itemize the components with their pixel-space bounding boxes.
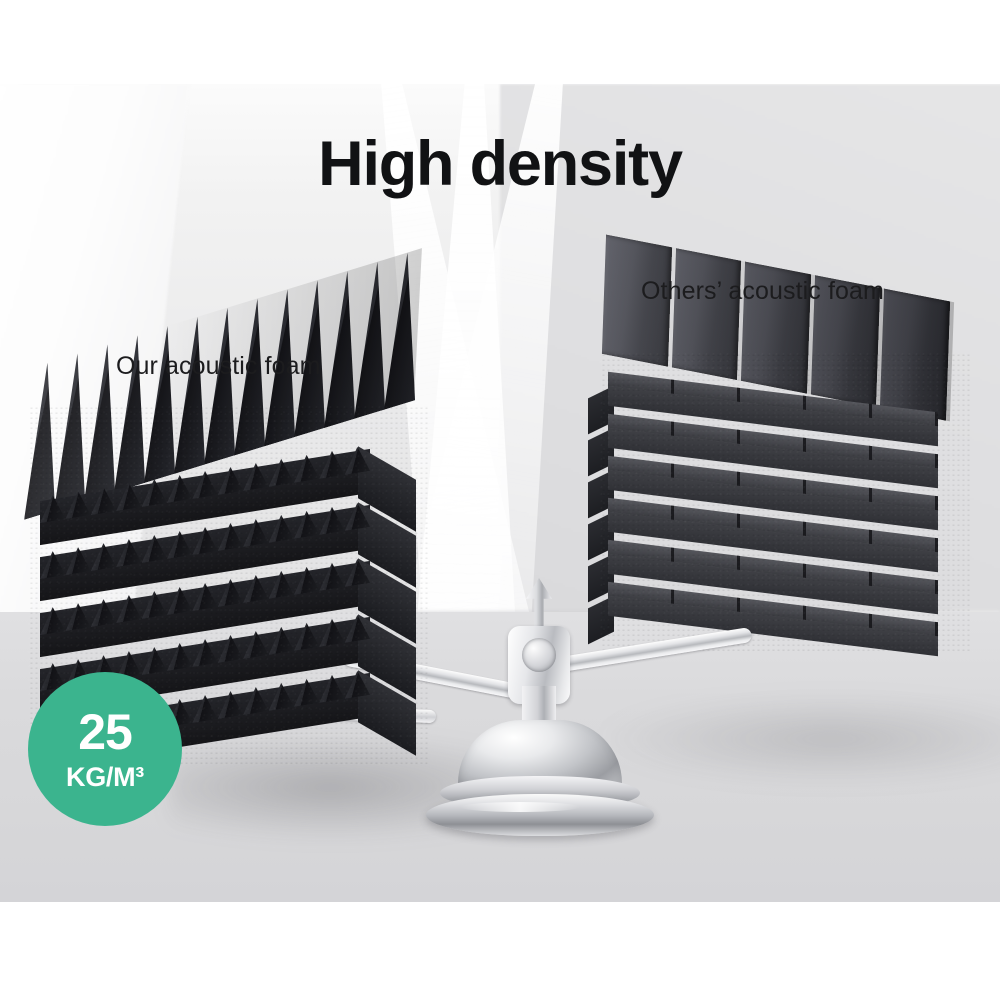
scale-pivot-pin xyxy=(522,638,556,672)
others-foam-rail xyxy=(671,248,741,380)
scale-base-highlight xyxy=(460,802,580,812)
density-badge: 25 KG/M³ xyxy=(28,672,182,826)
density-value: 25 xyxy=(78,707,132,757)
density-unit: KG/M³ xyxy=(66,764,144,791)
scale-base xyxy=(426,794,654,836)
label-our-foam: Our acoustic foam xyxy=(116,352,321,381)
label-others-foam: Others’ acoustic foam xyxy=(641,277,884,306)
product-image: High density xyxy=(0,0,1000,1000)
scale-arm-right xyxy=(541,627,753,675)
page-title: High density xyxy=(0,133,1000,196)
